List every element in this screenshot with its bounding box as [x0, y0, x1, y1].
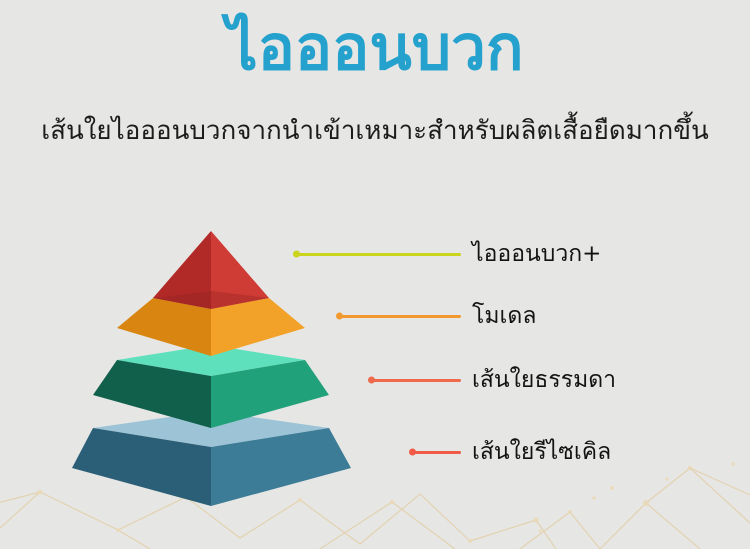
- pyramid-level-normal-fiber[interactable]: [93, 345, 329, 428]
- leader-dot-icon: [293, 251, 300, 258]
- legend-item-normal-fiber[interactable]: เส้นใยธรรมดา: [371, 363, 616, 397]
- legend-label: เส้นใยธรรมดา: [472, 369, 616, 392]
- page-title: ไอออนบวก: [0, 12, 750, 83]
- leader-dot-icon: [368, 377, 375, 384]
- leader-dot-icon: [409, 449, 416, 456]
- pyramid-level-cation-plus[interactable]: [153, 231, 269, 309]
- leader-dot-icon: [336, 313, 343, 320]
- leader-line-icon: [339, 315, 461, 318]
- leader-line-icon: [371, 379, 461, 382]
- poster-canvas: ไอออนบวก เส้นใยไอออนบวกจากนำเข้าเหมาะสำห…: [0, 0, 750, 549]
- legend-item-recycled-fiber[interactable]: เส้นใยรีไซเคิล: [412, 435, 611, 469]
- legend-item-model[interactable]: โมเดล: [339, 299, 536, 333]
- legend-label: โมเดล: [472, 305, 536, 328]
- page-subtitle: เส้นใยไอออนบวกจากนำเข้าเหมาะสำหรับผลิตเส…: [0, 116, 750, 147]
- leader-line-icon: [412, 451, 461, 454]
- leader-line-icon: [296, 253, 461, 256]
- legend-item-cation-plus[interactable]: ไอออนบวก+: [296, 237, 601, 271]
- legend-label: เส้นใยรีไซเคิล: [472, 441, 611, 464]
- legend-label: ไอออนบวก+: [472, 243, 601, 266]
